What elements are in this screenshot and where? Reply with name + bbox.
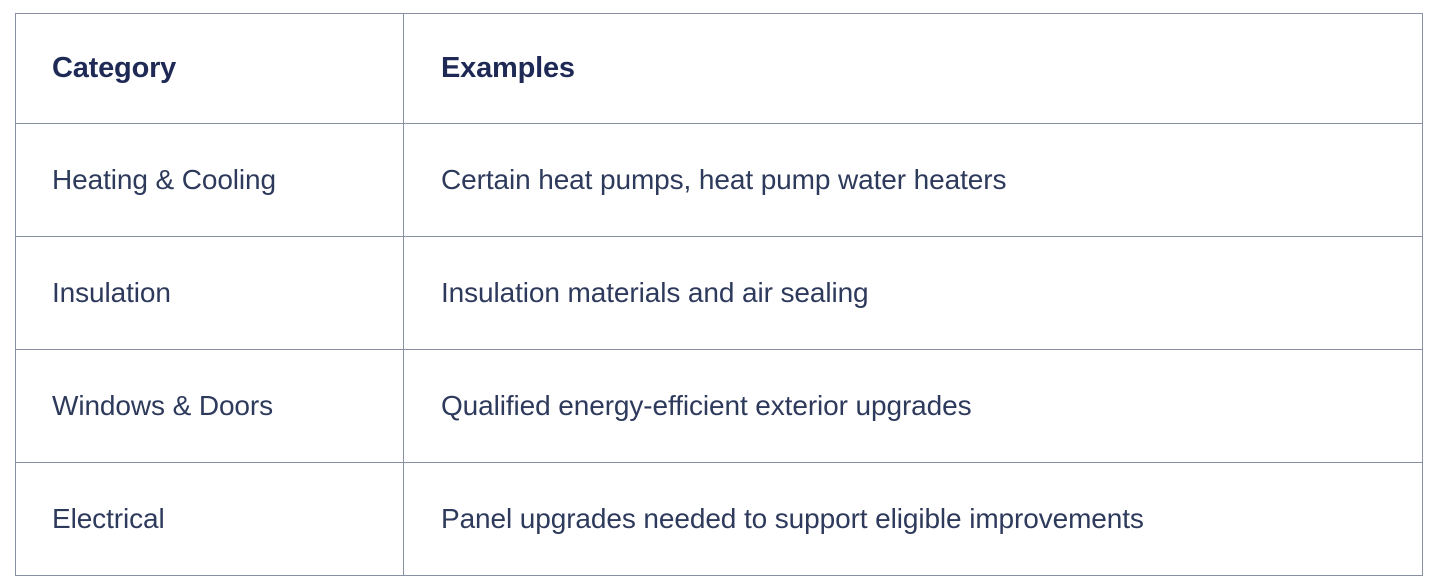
cell-category: Electrical	[16, 463, 404, 576]
cell-examples-text: Qualified energy-efficient exterior upgr…	[441, 389, 1402, 423]
cell-category-text: Windows & Doors	[52, 389, 387, 423]
cell-examples: Certain heat pumps, heat pump water heat…	[404, 124, 1423, 237]
cell-examples-text: Certain heat pumps, heat pump water heat…	[441, 163, 1402, 197]
column-header-examples: Examples	[404, 14, 1423, 124]
table-row: Heating & Cooling Certain heat pumps, he…	[16, 124, 1423, 237]
page-root: Category Examples Heating & Cooling Cert…	[0, 0, 1440, 577]
cell-examples-text: Insulation materials and air sealing	[441, 276, 1402, 310]
table-row: Windows & Doors Qualified energy-efficie…	[16, 350, 1423, 463]
table-header: Category Examples	[16, 14, 1423, 124]
cell-category: Heating & Cooling	[16, 124, 404, 237]
table-row: Electrical Panel upgrades needed to supp…	[16, 463, 1423, 576]
column-header-category-label: Category	[52, 51, 387, 86]
cell-category: Windows & Doors	[16, 350, 404, 463]
column-header-examples-label: Examples	[441, 51, 1402, 86]
cell-examples-text: Panel upgrades needed to support eligibl…	[441, 502, 1402, 536]
table-body: Heating & Cooling Certain heat pumps, he…	[16, 124, 1423, 576]
cell-examples: Insulation materials and air sealing	[404, 237, 1423, 350]
column-header-category: Category	[16, 14, 404, 124]
cell-examples: Panel upgrades needed to support eligibl…	[404, 463, 1423, 576]
table-row: Insulation Insulation materials and air …	[16, 237, 1423, 350]
cell-category: Insulation	[16, 237, 404, 350]
table-header-row: Category Examples	[16, 14, 1423, 124]
cell-category-text: Heating & Cooling	[52, 163, 387, 197]
cell-category-text: Electrical	[52, 502, 387, 536]
cell-examples: Qualified energy-efficient exterior upgr…	[404, 350, 1423, 463]
cell-category-text: Insulation	[52, 276, 387, 310]
eligibility-table: Category Examples Heating & Cooling Cert…	[15, 13, 1423, 576]
